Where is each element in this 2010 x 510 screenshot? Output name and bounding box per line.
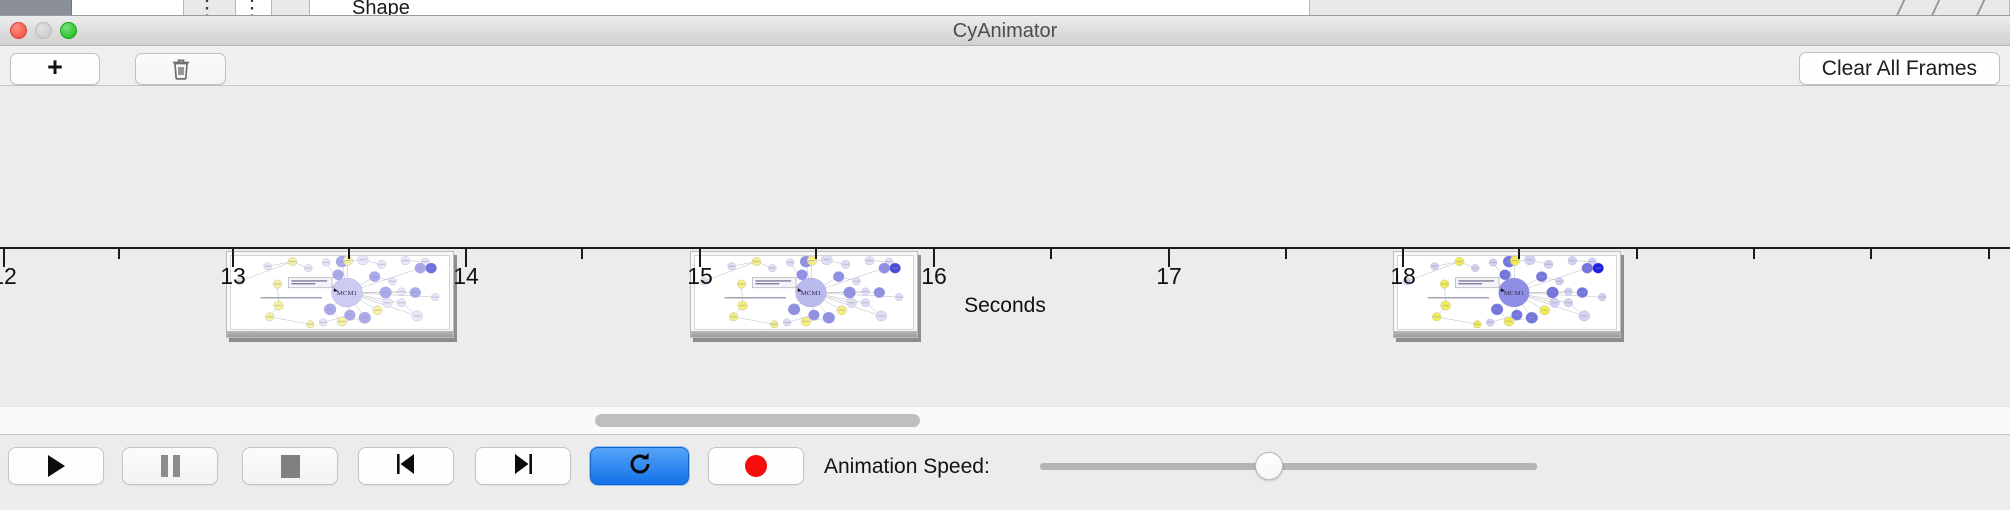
- play-button[interactable]: [8, 447, 104, 485]
- axis-tick-label: 16: [921, 263, 947, 290]
- thumbnail-base-shadow: [227, 331, 453, 337]
- horizontal-scrollbar-track[interactable]: [0, 406, 2010, 434]
- axis-tick: [581, 249, 583, 259]
- axis-tick: [1285, 249, 1287, 259]
- record-icon: [745, 455, 767, 477]
- window-title: CyAnimator: [0, 16, 2010, 46]
- delete-frame-button[interactable]: [135, 53, 226, 85]
- keyframe-network-preview: MCM1: [694, 255, 914, 330]
- axis-tick: [1870, 249, 1872, 259]
- slider-thumb[interactable]: [1255, 452, 1283, 480]
- loop-button[interactable]: [590, 447, 689, 485]
- thumbnail-base-shadow: [691, 331, 917, 337]
- axis-tick-label: 13: [220, 263, 246, 290]
- timeline-axis: [0, 247, 2010, 249]
- axis-tick: [1988, 249, 1990, 259]
- stop-icon: [281, 455, 300, 478]
- pause-button[interactable]: [122, 447, 218, 485]
- background-window-label: Shape: [352, 0, 410, 16]
- pause-icon: [161, 455, 180, 477]
- play-icon: [48, 455, 65, 477]
- stop-button[interactable]: [242, 447, 338, 485]
- next-frame-button[interactable]: [475, 447, 571, 485]
- axis-tick-label: 14: [453, 263, 479, 290]
- axis-tick: [348, 249, 350, 259]
- axis-tick: [1518, 249, 1520, 259]
- axis-tick: [1753, 249, 1755, 259]
- thumbnail-base-shadow: [1394, 331, 1620, 337]
- axis-tick: [1050, 249, 1052, 259]
- skip-previous-icon: [393, 452, 419, 481]
- add-frame-button[interactable]: +: [10, 53, 100, 85]
- plus-icon: +: [47, 54, 63, 81]
- axis-tick-label: 17: [1156, 263, 1182, 290]
- clear-all-frames-button[interactable]: Clear All Frames: [1799, 52, 2000, 85]
- keyframe-network-preview: MCM1: [230, 255, 450, 330]
- axis-tick-label: 18: [1390, 263, 1416, 290]
- horizontal-scrollbar-thumb[interactable]: [595, 414, 920, 427]
- background-window-strip: ⋮ ⋮ Shape: [0, 0, 2010, 16]
- axis-tick: [815, 249, 817, 259]
- cyanimator-window: ⋮ ⋮ Shape CyAnimator +: [0, 0, 2010, 510]
- slider-rail: [1040, 463, 1537, 470]
- previous-frame-button[interactable]: [358, 447, 454, 485]
- timeline-panel[interactable]: MCM1MCM1MCM1 12131415161718 Seconds: [0, 87, 2010, 406]
- title-bar: CyAnimator: [0, 16, 2010, 46]
- skip-next-icon: [510, 452, 536, 481]
- toolbar: + Clear All Frames: [0, 46, 2010, 86]
- record-button[interactable]: [708, 447, 804, 485]
- playback-control-bar: Animation Speed:: [0, 434, 2010, 510]
- loop-refresh-icon: [627, 451, 653, 482]
- axis-tick: [118, 249, 120, 259]
- animation-speed-slider[interactable]: [1040, 463, 1537, 470]
- axis-title: Seconds: [0, 294, 2010, 318]
- keyframe-network-preview: MCM1: [1397, 255, 1617, 330]
- animation-speed-label: Animation Speed:: [824, 455, 990, 479]
- axis-tick-label: 15: [687, 263, 713, 290]
- trash-icon: [170, 57, 192, 81]
- axis-tick: [1636, 249, 1638, 259]
- axis-tick-label: 12: [0, 263, 17, 290]
